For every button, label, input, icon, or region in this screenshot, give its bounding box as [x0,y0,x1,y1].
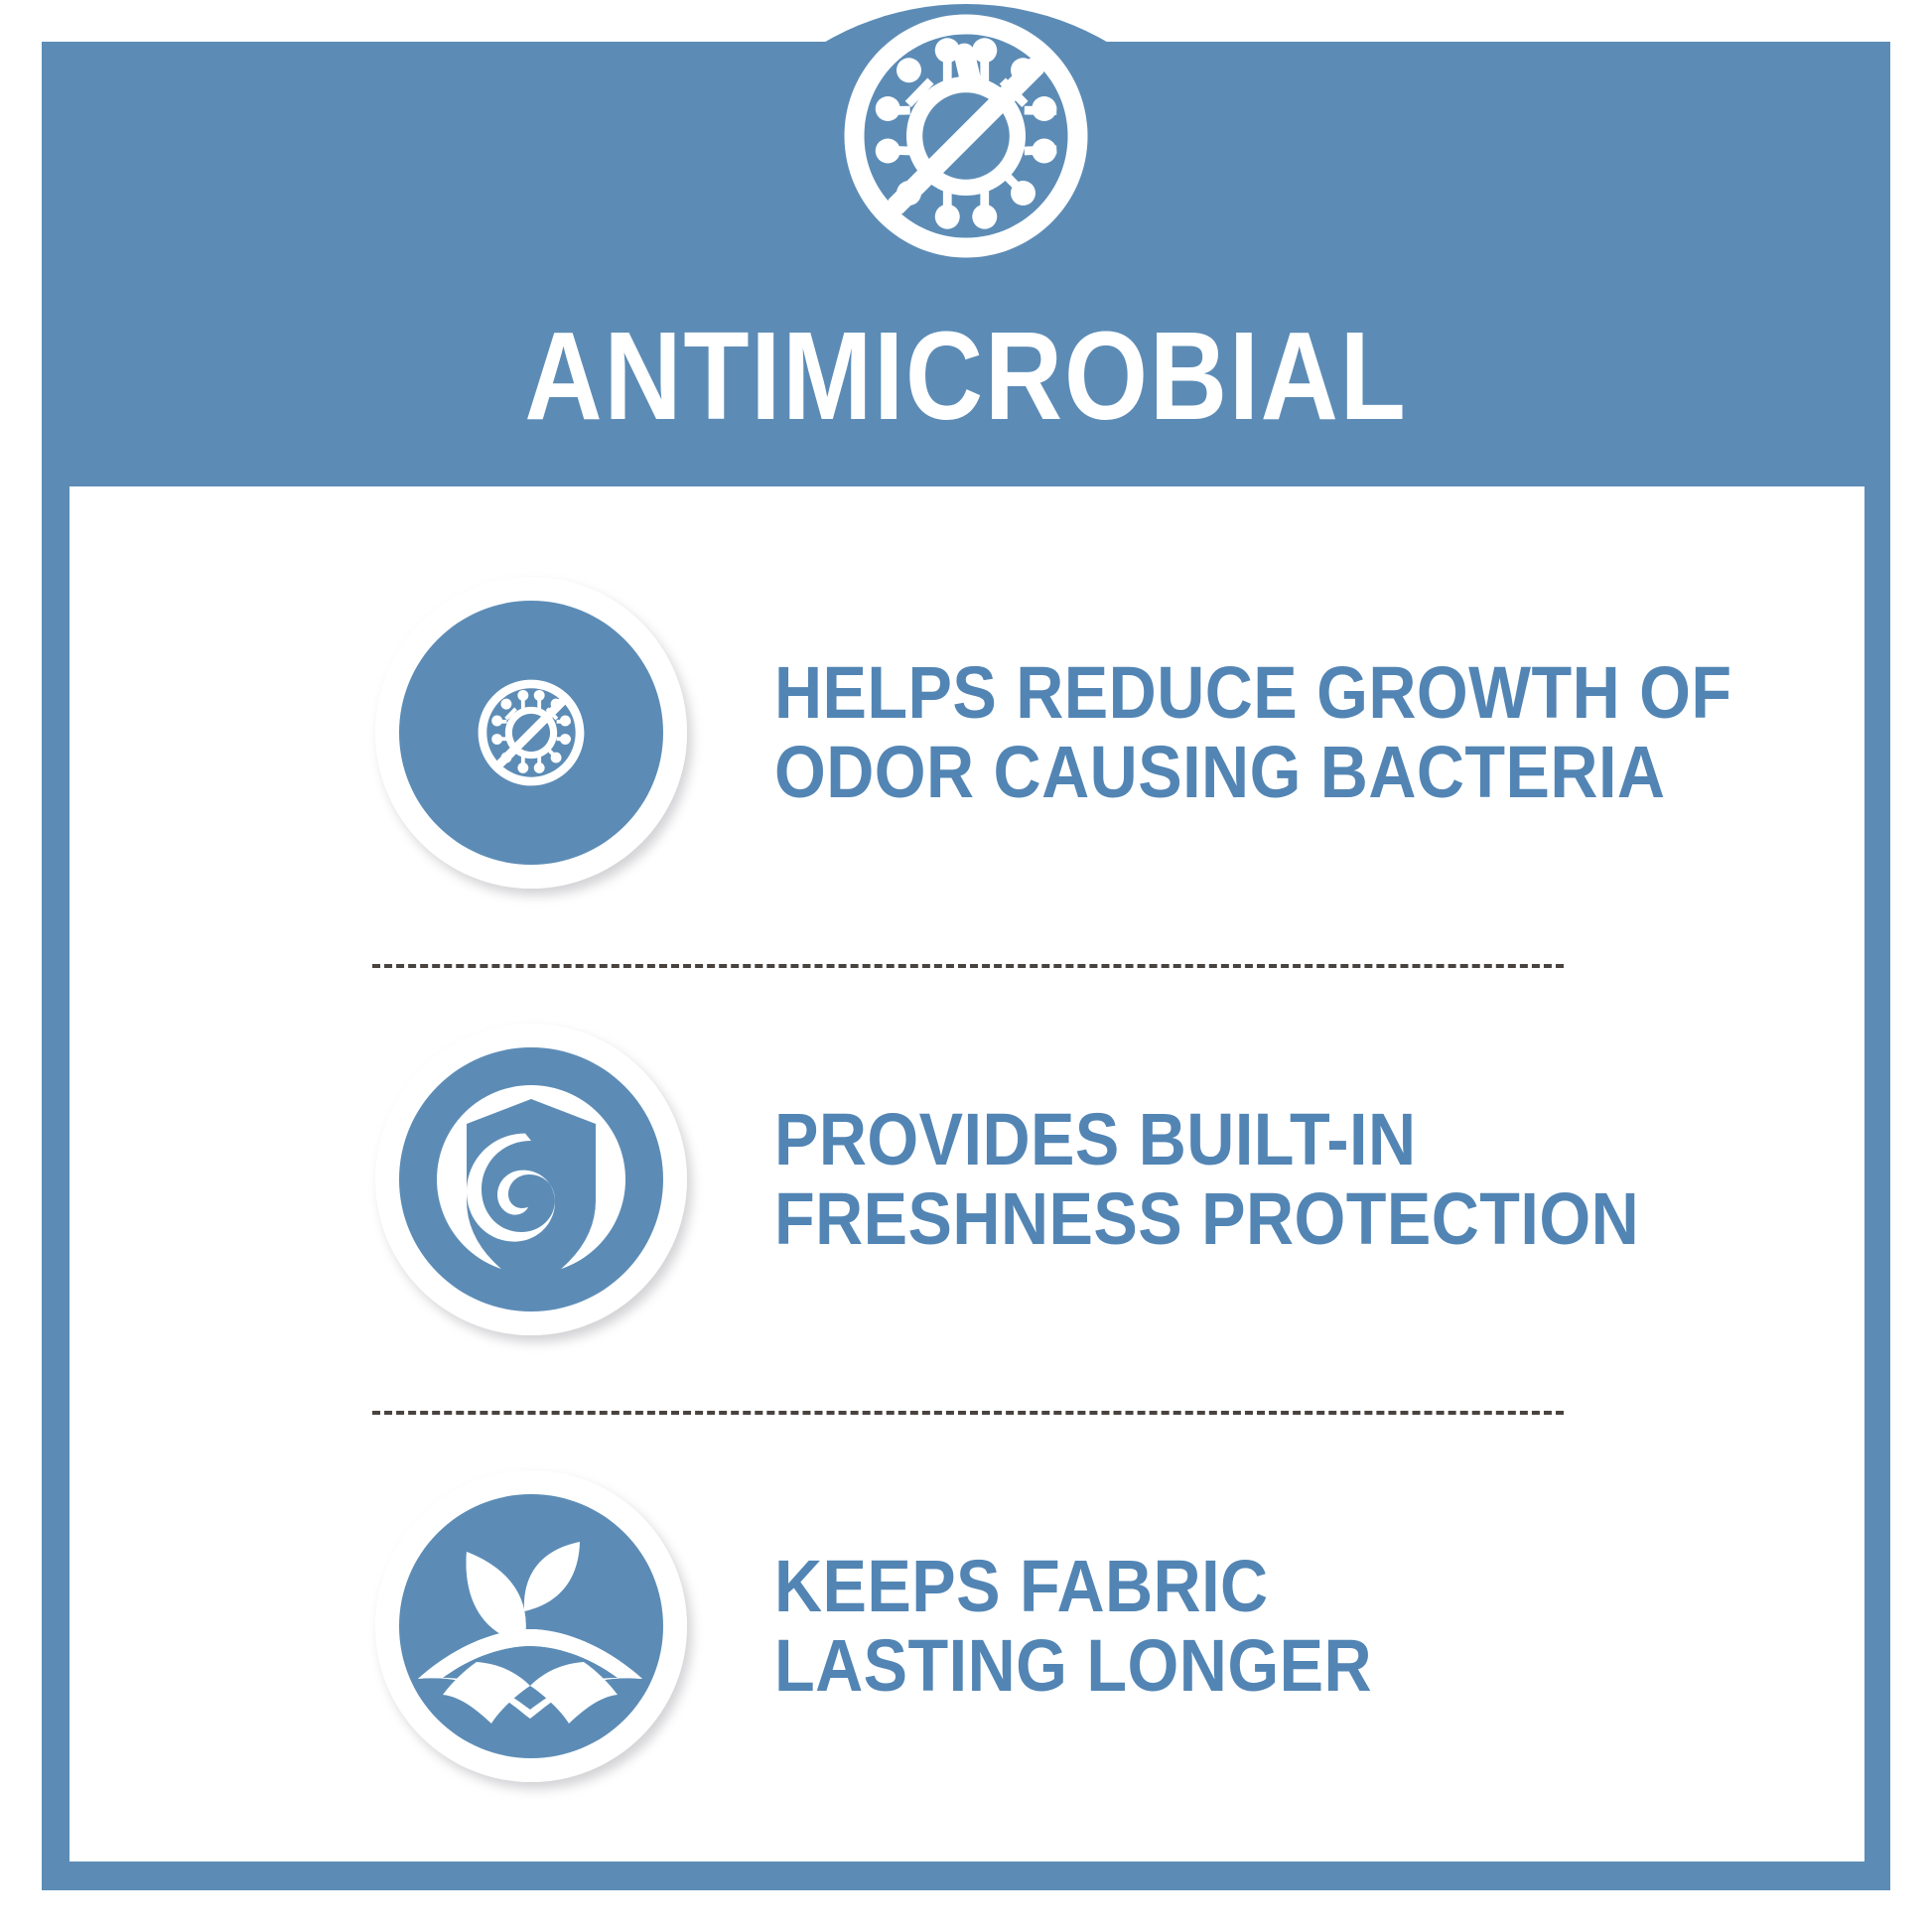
page-title: ANTIMICROBIAL [135,314,1797,439]
feature-label-2: PROVIDES BUILT-IN FRESHNESS PROTECTION [774,1100,1639,1259]
divider [372,1411,1564,1415]
feature-list: HELPS REDUCE GROWTH OF ODOR CAUSING BACT… [69,486,1864,1862]
no-virus-icon [375,577,687,889]
feature-label-3: KEEPS FABRIC LASTING LONGER [774,1547,1372,1706]
feature-icon-3-wrapper [375,1470,687,1782]
leaf-plant-icon [375,1470,687,1782]
divider [372,964,1564,968]
shield-swirl-icon [375,1024,687,1335]
no-virus-icon [842,12,1090,260]
feature-icon-2-wrapper [375,1024,687,1335]
feature-label-1: HELPS REDUCE GROWTH OF ODOR CAUSING BACT… [774,653,1732,812]
feature-icon-1-wrapper [375,577,687,889]
antimicrobial-infographic: ANTIMICROBIAL [0,0,1932,1932]
list-item: PROVIDES BUILT-IN FRESHNESS PROTECTION [69,991,1864,1368]
list-item: HELPS REDUCE GROWTH OF ODOR CAUSING BACT… [69,544,1864,921]
list-item: KEEPS FABRIC LASTING LONGER [69,1438,1864,1815]
